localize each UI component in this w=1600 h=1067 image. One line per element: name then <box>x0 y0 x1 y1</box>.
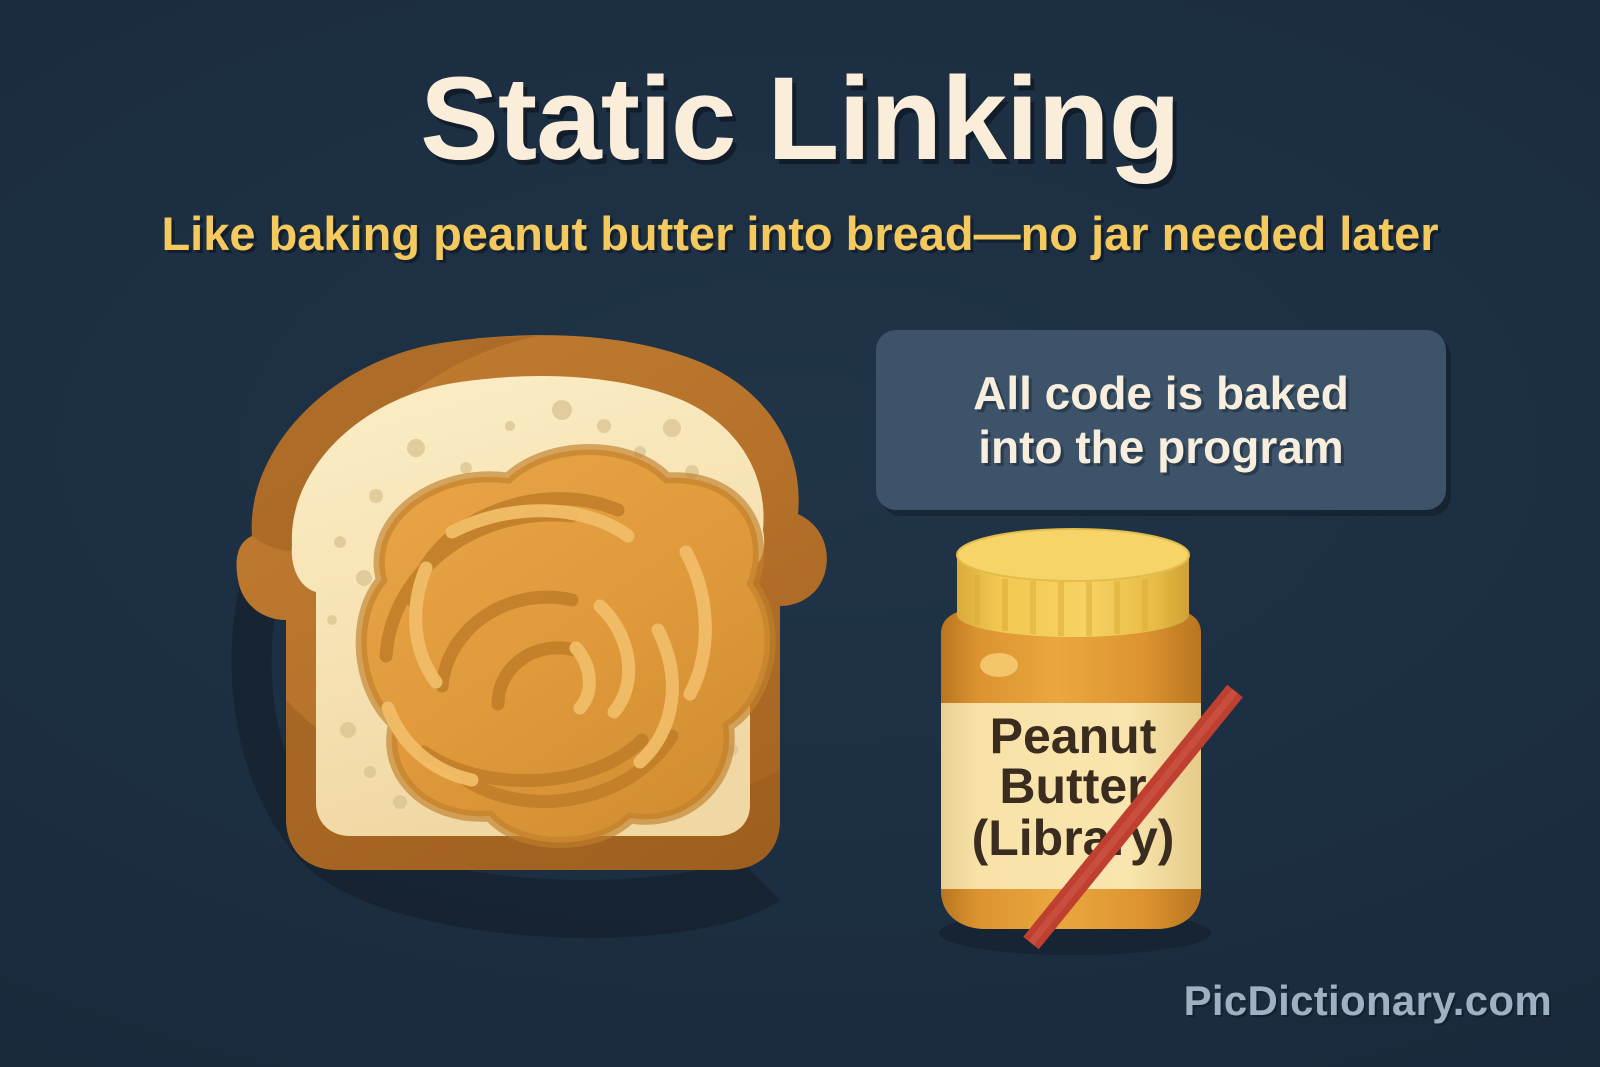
page-subtitle: Like baking peanut butter into bread—no … <box>0 206 1600 261</box>
bread-slice-illustration <box>180 300 860 920</box>
poster-canvas: Static Linking Like baking peanut butter… <box>0 0 1600 1067</box>
callout-text: All code is baked into the program <box>949 366 1373 475</box>
jar-label-line1: Peanut <box>990 708 1157 764</box>
jar-highlight <box>980 653 1018 677</box>
jar-label-line2: Butter <box>999 758 1146 814</box>
callout-box: All code is baked into the program <box>876 330 1446 510</box>
callout-line-2: into the program <box>978 421 1343 473</box>
callout-line-1: All code is baked <box>973 367 1349 419</box>
page-title: Static Linking <box>0 58 1600 182</box>
peanut-butter-jar-illustration: Peanut Butter (Library) <box>905 515 1275 955</box>
jar-lid <box>957 529 1189 637</box>
watermark: PicDictionary.com <box>1184 977 1552 1025</box>
jar-label-text: Peanut Butter (Library) <box>972 708 1175 866</box>
